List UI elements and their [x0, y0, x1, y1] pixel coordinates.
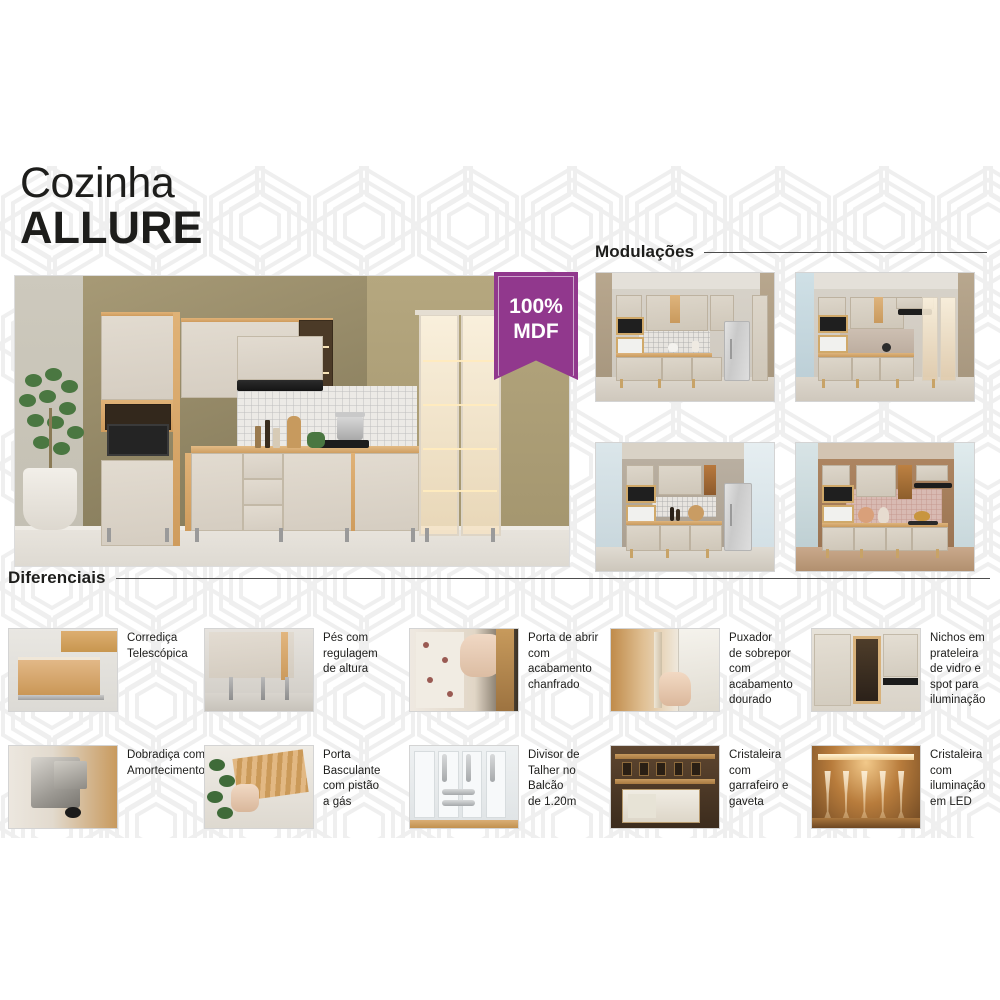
diferencial-label: Cristaleiracomiluminaçãoem LED [921, 745, 985, 810]
gas-piston-door-thumb-icon [204, 745, 314, 829]
diferencial-label: Nichos emprateleirade vidro espot parail… [921, 628, 985, 709]
diferenciais-rule [116, 578, 990, 579]
modulacao-thumb-3[interactable] [595, 442, 775, 572]
diferenciais-heading: Diferenciais [8, 568, 106, 588]
adjustable-feet-thumb-icon [204, 628, 314, 712]
diferencial-item-led[interactable]: Cristaleiracomiluminaçãoem LED [811, 745, 1000, 837]
product-sheet-page: Cozinha ALLURE [0, 0, 1000, 1000]
mdf-badge-line1: 100% [494, 294, 578, 319]
diferencial-item-divisor[interactable]: Divisor deTalher noBalcãode 1.20m [409, 745, 605, 837]
modulacao-thumb-4[interactable] [795, 442, 975, 572]
diferencial-item-garrafeiro[interactable]: Cristaleiracomgarrafeiro egaveta [610, 745, 806, 837]
page-title: Cozinha ALLURE [20, 160, 202, 252]
diferencial-label: Dobradiça comAmortecimento [118, 745, 205, 779]
diferencial-item-puxador[interactable]: Puxadorde sobreporcomacabamentodourado [610, 628, 806, 720]
chamfered-door-thumb-icon [409, 628, 519, 712]
diferencial-item-basculante[interactable]: PortaBasculantecom pistãoa gás [204, 745, 400, 837]
drawer-slide-thumb-icon [8, 628, 118, 712]
hero-kitchen-image [14, 275, 570, 567]
modulacoes-heading: Modulações [595, 242, 694, 262]
led-lighting-thumb-icon [811, 745, 921, 829]
diferenciais-section-header: Diferenciais [8, 568, 990, 588]
top-white-margin [0, 0, 1000, 166]
plant-decor-icon [19, 368, 83, 476]
modulacao-thumb-2[interactable] [795, 272, 975, 402]
diferencial-label: Divisor deTalher noBalcãode 1.20m [519, 745, 580, 810]
diferencial-item-dobradica[interactable]: Dobradiça comAmortecimento [8, 745, 204, 837]
mdf-badge-line2: MDF [494, 319, 578, 344]
modulacao-thumb-1[interactable] [595, 272, 775, 402]
cutlery-divider-thumb-icon [409, 745, 519, 829]
diferencial-item-pes[interactable]: Pés comregulagemde altura [204, 628, 400, 720]
diferencial-item-corredica[interactable]: CorrediçaTelescópica [8, 628, 204, 720]
diferencial-label: Puxadorde sobreporcomacabamentodourado [720, 628, 793, 709]
page-title-line1: Cozinha [20, 160, 202, 206]
diferencial-item-porta-abrir[interactable]: Porta de abrircomacabamentochanfrado [409, 628, 605, 720]
diferencial-label: Cristaleiracomgarrafeiro egaveta [720, 745, 788, 810]
bottom-white-margin [0, 838, 1000, 1000]
modulacoes-rule [704, 252, 987, 253]
diferencial-label: CorrediçaTelescópica [118, 628, 188, 662]
diferencial-label: PortaBasculantecom pistãoa gás [314, 745, 380, 810]
mdf-badge: 100% MDF [494, 272, 578, 380]
wine-rack-drawer-thumb-icon [610, 745, 720, 829]
diferencial-item-nichos[interactable]: Nichos emprateleirade vidro espot parail… [811, 628, 1000, 720]
diferencial-label: Pés comregulagemde altura [314, 628, 378, 678]
diferencial-label: Porta de abrircomacabamentochanfrado [519, 628, 598, 693]
gold-handle-thumb-icon [610, 628, 720, 712]
modulacoes-section-header: Modulações [595, 242, 987, 262]
glass-shelf-niche-thumb-icon [811, 628, 921, 712]
page-title-line2: ALLURE [20, 204, 202, 252]
soft-close-hinge-thumb-icon [8, 745, 118, 829]
